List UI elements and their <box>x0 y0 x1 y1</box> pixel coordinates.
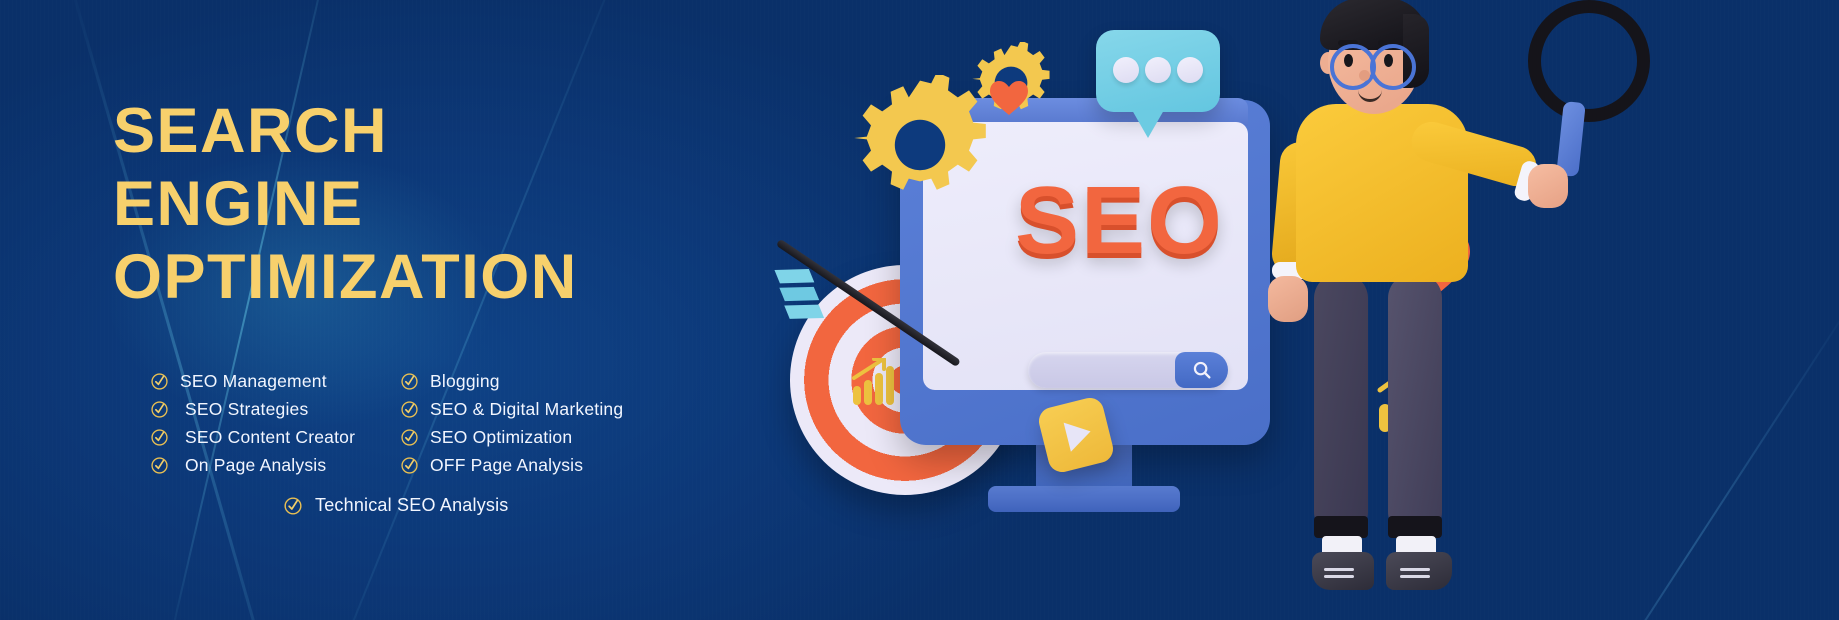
seo-illustration: SEO <box>760 0 1839 620</box>
list-item: Blogging <box>400 368 740 395</box>
person-icon <box>1260 0 1590 620</box>
search-button[interactable] <box>1175 352 1228 388</box>
check-circle-icon <box>400 456 419 475</box>
feature-column-right: Blogging SEO & Digital Marketing SEO Opt… <box>400 368 740 480</box>
page-title: SEARCH ENGINE OPTIMIZATION <box>113 100 773 309</box>
check-circle-icon <box>283 496 303 516</box>
gear-icon <box>850 75 990 215</box>
list-item-label: Blogging <box>430 371 500 392</box>
headline-line-1: SEARCH <box>113 100 773 163</box>
seo-banner: SEARCH ENGINE OPTIMIZATION SEO Managemen… <box>0 0 1839 620</box>
check-circle-icon <box>150 428 169 447</box>
list-item: SEO & Digital Marketing <box>400 396 740 423</box>
list-item: SEO Content Creator <box>150 424 400 451</box>
list-item-label: SEO Optimization <box>430 427 572 448</box>
shoe-stripe <box>1400 575 1430 578</box>
shoe-left <box>1312 552 1374 590</box>
seo-screen-text: SEO <box>1015 166 1224 276</box>
check-circle-icon <box>400 428 419 447</box>
check-circle-icon <box>400 372 419 391</box>
list-item-label: Technical SEO Analysis <box>315 495 509 516</box>
search-input[interactable] <box>1028 352 1228 388</box>
headline-line-2: ENGINE <box>113 173 773 236</box>
magnifier-icon <box>1191 359 1213 381</box>
leg-left <box>1314 274 1368 536</box>
pant-cuff-left <box>1314 516 1368 538</box>
list-item-label: OFF Page Analysis <box>430 455 583 476</box>
list-item-label: SEO Content Creator <box>180 427 355 448</box>
check-circle-icon <box>150 400 169 419</box>
shoe-stripe <box>1400 568 1430 571</box>
glasses-icon <box>1370 44 1416 90</box>
shoe-stripe <box>1324 575 1354 578</box>
list-item-label: SEO Strategies <box>180 399 308 420</box>
check-circle-icon <box>400 400 419 419</box>
feature-list: SEO Management SEO Strategies SEO Conten… <box>150 368 790 480</box>
list-item: SEO Optimization <box>400 424 740 451</box>
headline-line-3: OPTIMIZATION <box>113 246 773 309</box>
check-circle-icon <box>150 372 169 391</box>
bubble-dot <box>1113 57 1139 83</box>
list-item-technical-seo: Technical SEO Analysis <box>283 495 509 516</box>
monitor-base <box>988 486 1180 512</box>
list-item-label: On Page Analysis <box>180 455 326 476</box>
pant-cuff-right <box>1388 516 1442 538</box>
growth-chart-icon <box>852 358 904 406</box>
shoe-right <box>1386 552 1452 590</box>
list-item: OFF Page Analysis <box>400 452 740 479</box>
bubble-dot <box>1177 57 1203 83</box>
list-item-label: SEO & Digital Marketing <box>430 399 623 420</box>
leg-right <box>1388 274 1442 536</box>
heart-icon <box>988 78 1030 116</box>
list-item-label: SEO Management <box>180 371 327 392</box>
magnifier-icon <box>1528 0 1650 122</box>
list-item: On Page Analysis <box>150 452 400 479</box>
shoe-stripe <box>1324 568 1354 571</box>
list-item: SEO Management <box>150 368 400 395</box>
list-item: SEO Strategies <box>150 396 400 423</box>
hand-right <box>1528 164 1568 208</box>
nose <box>1359 70 1370 81</box>
bubble-dot <box>1145 57 1171 83</box>
check-circle-icon <box>150 456 169 475</box>
feature-column-left: SEO Management SEO Strategies SEO Conten… <box>150 368 400 480</box>
chat-bubble-icon <box>1096 30 1220 112</box>
hand-left <box>1268 276 1308 322</box>
